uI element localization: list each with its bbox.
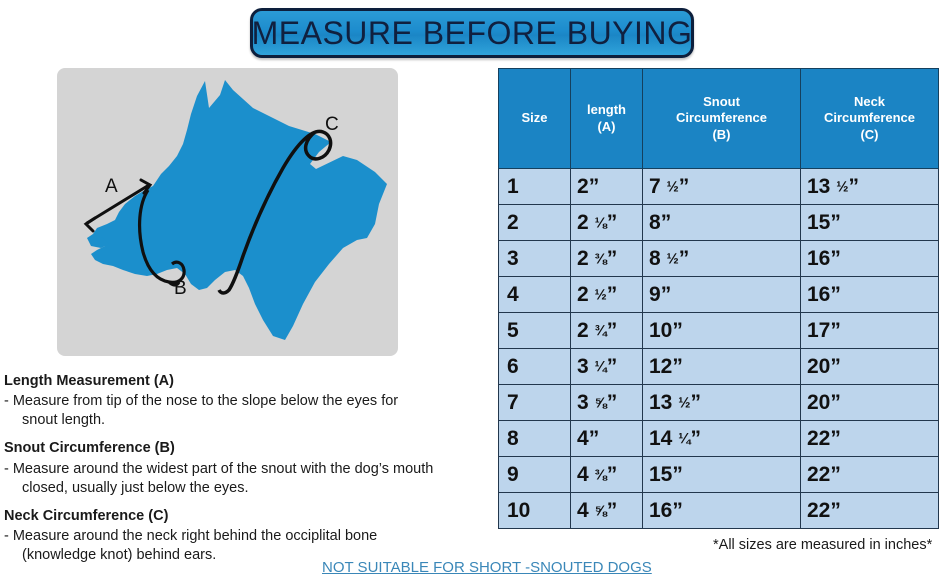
cell-unit: ” [661,283,672,306]
cell-unit: ” [672,319,683,342]
cell-unit: ” [830,499,841,522]
cell-whole: 2 [577,283,589,306]
table-row: 84”14 ¼”22” [499,421,939,457]
instruction-length-title: Length Measurement (A) [4,372,494,390]
cell-snout-10: 16” [643,493,801,529]
cell-length-6: 3 ¼” [571,349,643,385]
cell-neck-9: 22” [801,457,939,493]
cell-fraction: ¼ [678,431,690,447]
label-b-text: B [174,278,187,299]
cell-fraction: ½ [667,251,679,267]
cell-unit: ” [607,319,618,342]
cell-whole: 4 [577,427,589,450]
cell-length-5: 2 ¾” [571,313,643,349]
cell-snout-8: 14 ¼” [643,421,801,457]
cell-snout-3: 8 ½” [643,241,801,277]
dog-head-illustration: A B C [57,68,398,356]
cell-size-5: 5 [499,313,571,349]
column-header-size: Size [499,69,571,169]
cell-fraction: ½ [678,395,690,411]
instruction-snout-title: Snout Circumference (B) [4,439,494,457]
cell-whole: 22 [807,463,830,486]
cell-unit: ” [607,499,618,522]
cell-unit: ” [830,247,841,270]
cell-unit: ” [679,247,690,270]
cell-size-9: 9 [499,457,571,493]
cell-size-4: 4 [499,277,571,313]
cell-length-3: 2 ⅜” [571,241,643,277]
cell-unit: ” [690,427,701,450]
cell-snout-2: 8” [643,205,801,241]
cell-whole: 3 [577,391,589,414]
cell-size-1: 1 [499,169,571,205]
cell-neck-2: 15” [801,205,939,241]
table-row: 22 ⅛”8”15” [499,205,939,241]
cell-unit: ” [607,283,618,306]
cell-unit: ” [589,427,600,450]
cell-whole: 12 [649,355,672,378]
cell-whole: 20 [807,391,830,414]
column-header-length-l1: length [573,102,640,118]
cell-whole: 2 [577,247,589,270]
cell-whole: 7 [649,175,661,198]
cell-size-7: 7 [499,385,571,421]
instruction-neck-title: Neck Circumference (C) [4,507,494,525]
table-row: 104 ⅝”16”22” [499,493,939,529]
column-header-neck-l3: (C) [803,127,936,143]
cell-fraction: ⅝ [595,395,607,411]
cell-size-6: 6 [499,349,571,385]
column-header-neck-l2: Circumference [803,110,936,126]
column-header-snout-l2: Circumference [645,110,798,126]
instruction-snout: Snout Circumference (B) - Measure around… [4,439,494,497]
measurement-instructions: Length Measurement (A) - Measure from ti… [4,372,494,574]
instruction-length-line1: - Measure from tip of the nose to the sl… [4,393,398,409]
cell-whole: 9 [649,283,661,306]
cell-whole: 3 [577,355,589,378]
instruction-neck-line1: - Measure around the neck right behind t… [4,528,377,544]
cell-fraction: ½ [595,287,607,303]
cell-size-3: 3 [499,241,571,277]
cell-whole: 15 [807,211,830,234]
cell-whole: 8 [649,211,661,234]
cell-fraction: ⅜ [595,467,607,483]
cell-unit: ” [830,463,841,486]
cell-unit: ” [830,391,841,414]
cell-fraction: ⅛ [595,215,607,231]
label-c-text: C [325,114,339,135]
cell-neck-8: 22” [801,421,939,457]
cell-whole: 22 [807,427,830,450]
cell-neck-4: 16” [801,277,939,313]
cell-whole: 4 [577,463,589,486]
cell-length-10: 4 ⅝” [571,493,643,529]
table-row: 94 ⅜”15”22” [499,457,939,493]
dog-silhouette-shape [91,80,387,340]
cell-length-4: 2 ½” [571,277,643,313]
cell-fraction: ¾ [595,323,607,339]
cell-fraction: ⅝ [595,503,607,519]
cell-whole: 2 [577,211,589,234]
table-row: 42 ½”9”16” [499,277,939,313]
cell-unit: ” [830,283,841,306]
cell-whole: 2 [577,175,589,198]
cell-snout-4: 9” [643,277,801,313]
page-title: MEASURE BEFORE BUYING [252,15,693,52]
cell-neck-3: 16” [801,241,939,277]
cell-length-7: 3 ⅝” [571,385,643,421]
label-a-text: A [105,176,118,197]
table-row: 32 ⅜”8 ½”16” [499,241,939,277]
cell-size-8: 8 [499,421,571,457]
title-banner: MEASURE BEFORE BUYING [250,8,694,58]
cell-size-2: 2 [499,205,571,241]
cell-whole: 8 [649,247,661,270]
cell-unit: ” [830,211,841,234]
all-sizes-inches-note: *All sizes are measured in inches* [713,537,932,553]
cell-fraction: ⅜ [595,251,607,267]
cell-unit: ” [607,355,618,378]
cell-neck-1: 13 ½” [801,169,939,205]
table-row: 12”7 ½”13 ½” [499,169,939,205]
cell-length-9: 4 ⅜” [571,457,643,493]
instruction-length-body: - Measure from tip of the nose to the sl… [4,392,494,430]
cell-unit: ” [830,427,841,450]
cell-whole: 16 [807,283,830,306]
cell-unit: ” [848,175,859,198]
instruction-neck: Neck Circumference (C) - Measure around … [4,507,494,565]
column-header-length-l2: (A) [573,119,640,135]
instruction-length: Length Measurement (A) - Measure from ti… [4,372,494,430]
cell-snout-7: 13 ½” [643,385,801,421]
cell-whole: 4 [577,499,589,522]
column-header-snout: Snout Circumference (B) [643,69,801,169]
cell-neck-7: 20” [801,385,939,421]
cell-unit: ” [607,247,618,270]
cell-whole: 17 [807,319,830,342]
cell-whole: 20 [807,355,830,378]
instruction-length-line2: snout length. [10,411,494,430]
cell-length-1: 2” [571,169,643,205]
instruction-snout-line2: closed, usually just below the eyes. [10,479,494,498]
cell-whole: 15 [649,463,672,486]
cell-neck-5: 17” [801,313,939,349]
table-header-row: Size length (A) Snout Circumference (B) … [499,69,939,169]
cell-unit: ” [607,463,618,486]
column-header-length: length (A) [571,69,643,169]
cell-unit: ” [679,175,690,198]
cell-snout-6: 12” [643,349,801,385]
size-chart-body: 12”7 ½”13 ½”22 ⅛”8”15”32 ⅜”8 ½”16”42 ½”9… [499,169,939,529]
cell-fraction: ½ [667,179,679,195]
cell-whole: 13 [649,391,672,414]
cell-fraction: ¼ [595,359,607,375]
cell-whole: 16 [649,499,672,522]
cell-unit: ” [672,355,683,378]
cell-whole: 14 [649,427,672,450]
column-header-neck: Neck Circumference (C) [801,69,939,169]
instruction-snout-line1: - Measure around the widest part of the … [4,461,433,477]
instruction-snout-body: - Measure around the widest part of the … [4,460,494,498]
cell-fraction: ½ [836,179,848,195]
cell-unit: ” [589,175,600,198]
cell-whole: 13 [807,175,830,198]
cell-neck-10: 22” [801,493,939,529]
table-row: 63 ¼”12”20” [499,349,939,385]
cell-unit: ” [607,391,618,414]
cell-unit: ” [607,211,618,234]
cell-snout-9: 15” [643,457,801,493]
cell-unit: ” [830,319,841,342]
column-header-snout-l1: Snout [645,94,798,110]
column-header-neck-l1: Neck [803,94,936,110]
cell-unit: ” [661,211,672,234]
table-row: 52 ¾”10”17” [499,313,939,349]
column-header-size-l1: Size [501,110,568,126]
cell-whole: 16 [807,247,830,270]
table-row: 73 ⅝”13 ½”20” [499,385,939,421]
cell-unit: ” [690,391,701,414]
cell-whole: 22 [807,499,830,522]
cell-unit: ” [830,355,841,378]
size-chart-table: Size length (A) Snout Circumference (B) … [498,68,939,529]
cell-snout-1: 7 ½” [643,169,801,205]
cell-whole: 10 [649,319,672,342]
column-header-snout-l3: (B) [645,127,798,143]
cell-neck-6: 20” [801,349,939,385]
cell-length-8: 4” [571,421,643,457]
cell-snout-5: 10” [643,313,801,349]
not-suitable-warning: NOT SUITABLE FOR SHORT -SNOUTED DOGS [322,559,652,576]
dog-diagram-panel: A B C [57,68,398,356]
cell-unit: ” [672,463,683,486]
cell-length-2: 2 ⅛” [571,205,643,241]
cell-unit: ” [672,499,683,522]
cell-whole: 2 [577,319,589,342]
cell-size-10: 10 [499,493,571,529]
